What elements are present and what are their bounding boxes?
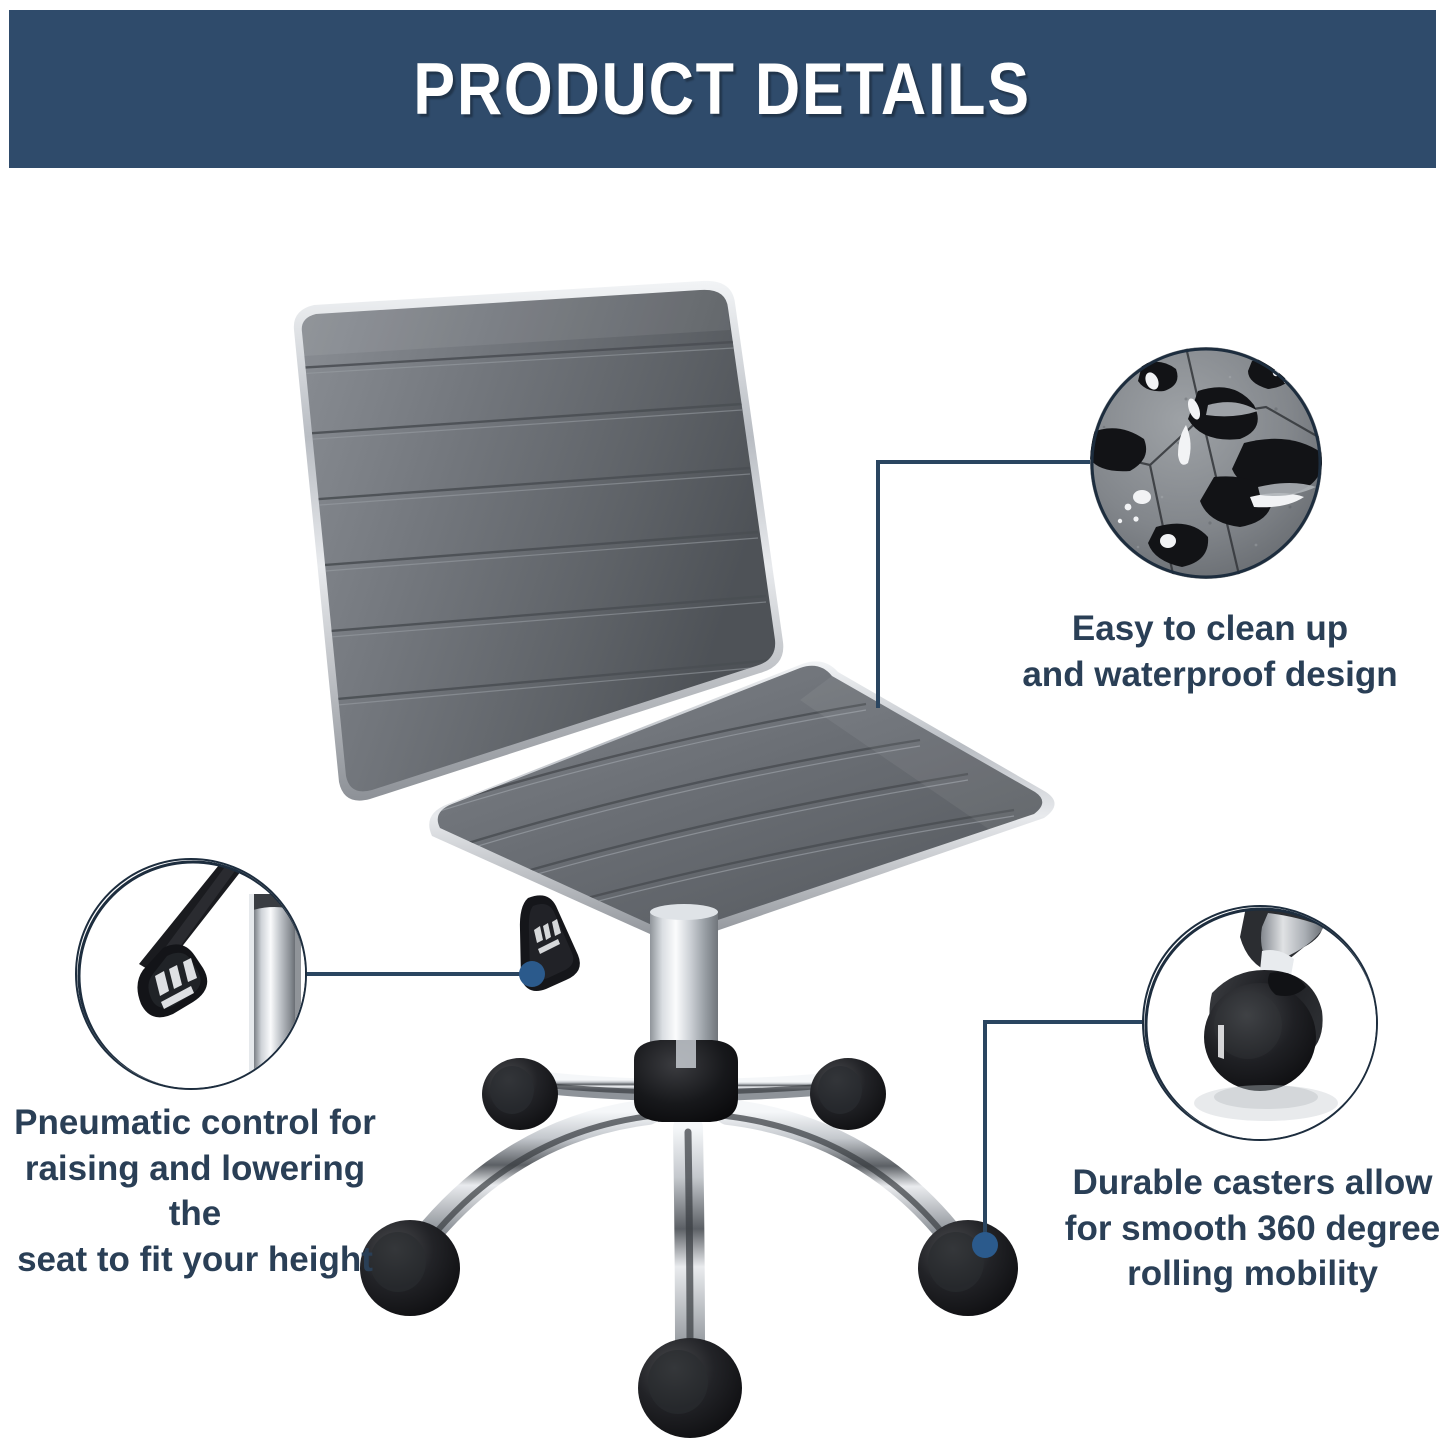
caption-caster: Durable casters allow for smooth 360 deg… bbox=[1060, 1160, 1445, 1297]
caption-pneumatic-line2: raising and lowering the bbox=[0, 1146, 395, 1237]
caption-waterproof-line1: Easy to clean up bbox=[975, 606, 1445, 652]
caster-wheel-image bbox=[1144, 907, 1378, 1141]
caption-caster-line3: rolling mobility bbox=[1060, 1251, 1445, 1297]
pneumatic-lever-image bbox=[77, 860, 307, 1090]
detail-circle-waterproof bbox=[1090, 347, 1322, 579]
detail-circle-caster bbox=[1142, 905, 1378, 1141]
caption-pneumatic-line3: seat to fit your height bbox=[0, 1237, 395, 1283]
caster-rear-left bbox=[482, 1058, 558, 1130]
caption-pneumatic-line1: Pneumatic control for bbox=[0, 1100, 395, 1146]
caption-caster-line1: Durable casters allow bbox=[1060, 1160, 1445, 1206]
caption-pneumatic: Pneumatic control for raising and loweri… bbox=[0, 1100, 395, 1282]
waterproof-leather-image bbox=[1090, 347, 1322, 579]
caster-rear-right bbox=[810, 1058, 886, 1130]
caption-waterproof-line2: and waterproof design bbox=[975, 652, 1445, 698]
caption-caster-line2: for smooth 360 degree bbox=[1060, 1206, 1445, 1252]
caption-waterproof: Easy to clean up and waterproof design bbox=[975, 606, 1445, 697]
pneumatic-lever bbox=[520, 895, 580, 991]
detail-circle-pneumatic bbox=[75, 858, 307, 1090]
caster-front-right bbox=[918, 1220, 1018, 1316]
product-details-infographic: PRODUCT DETAILS bbox=[0, 0, 1445, 1445]
base-center-hub bbox=[634, 1040, 738, 1122]
caster-front-center bbox=[638, 1338, 742, 1438]
